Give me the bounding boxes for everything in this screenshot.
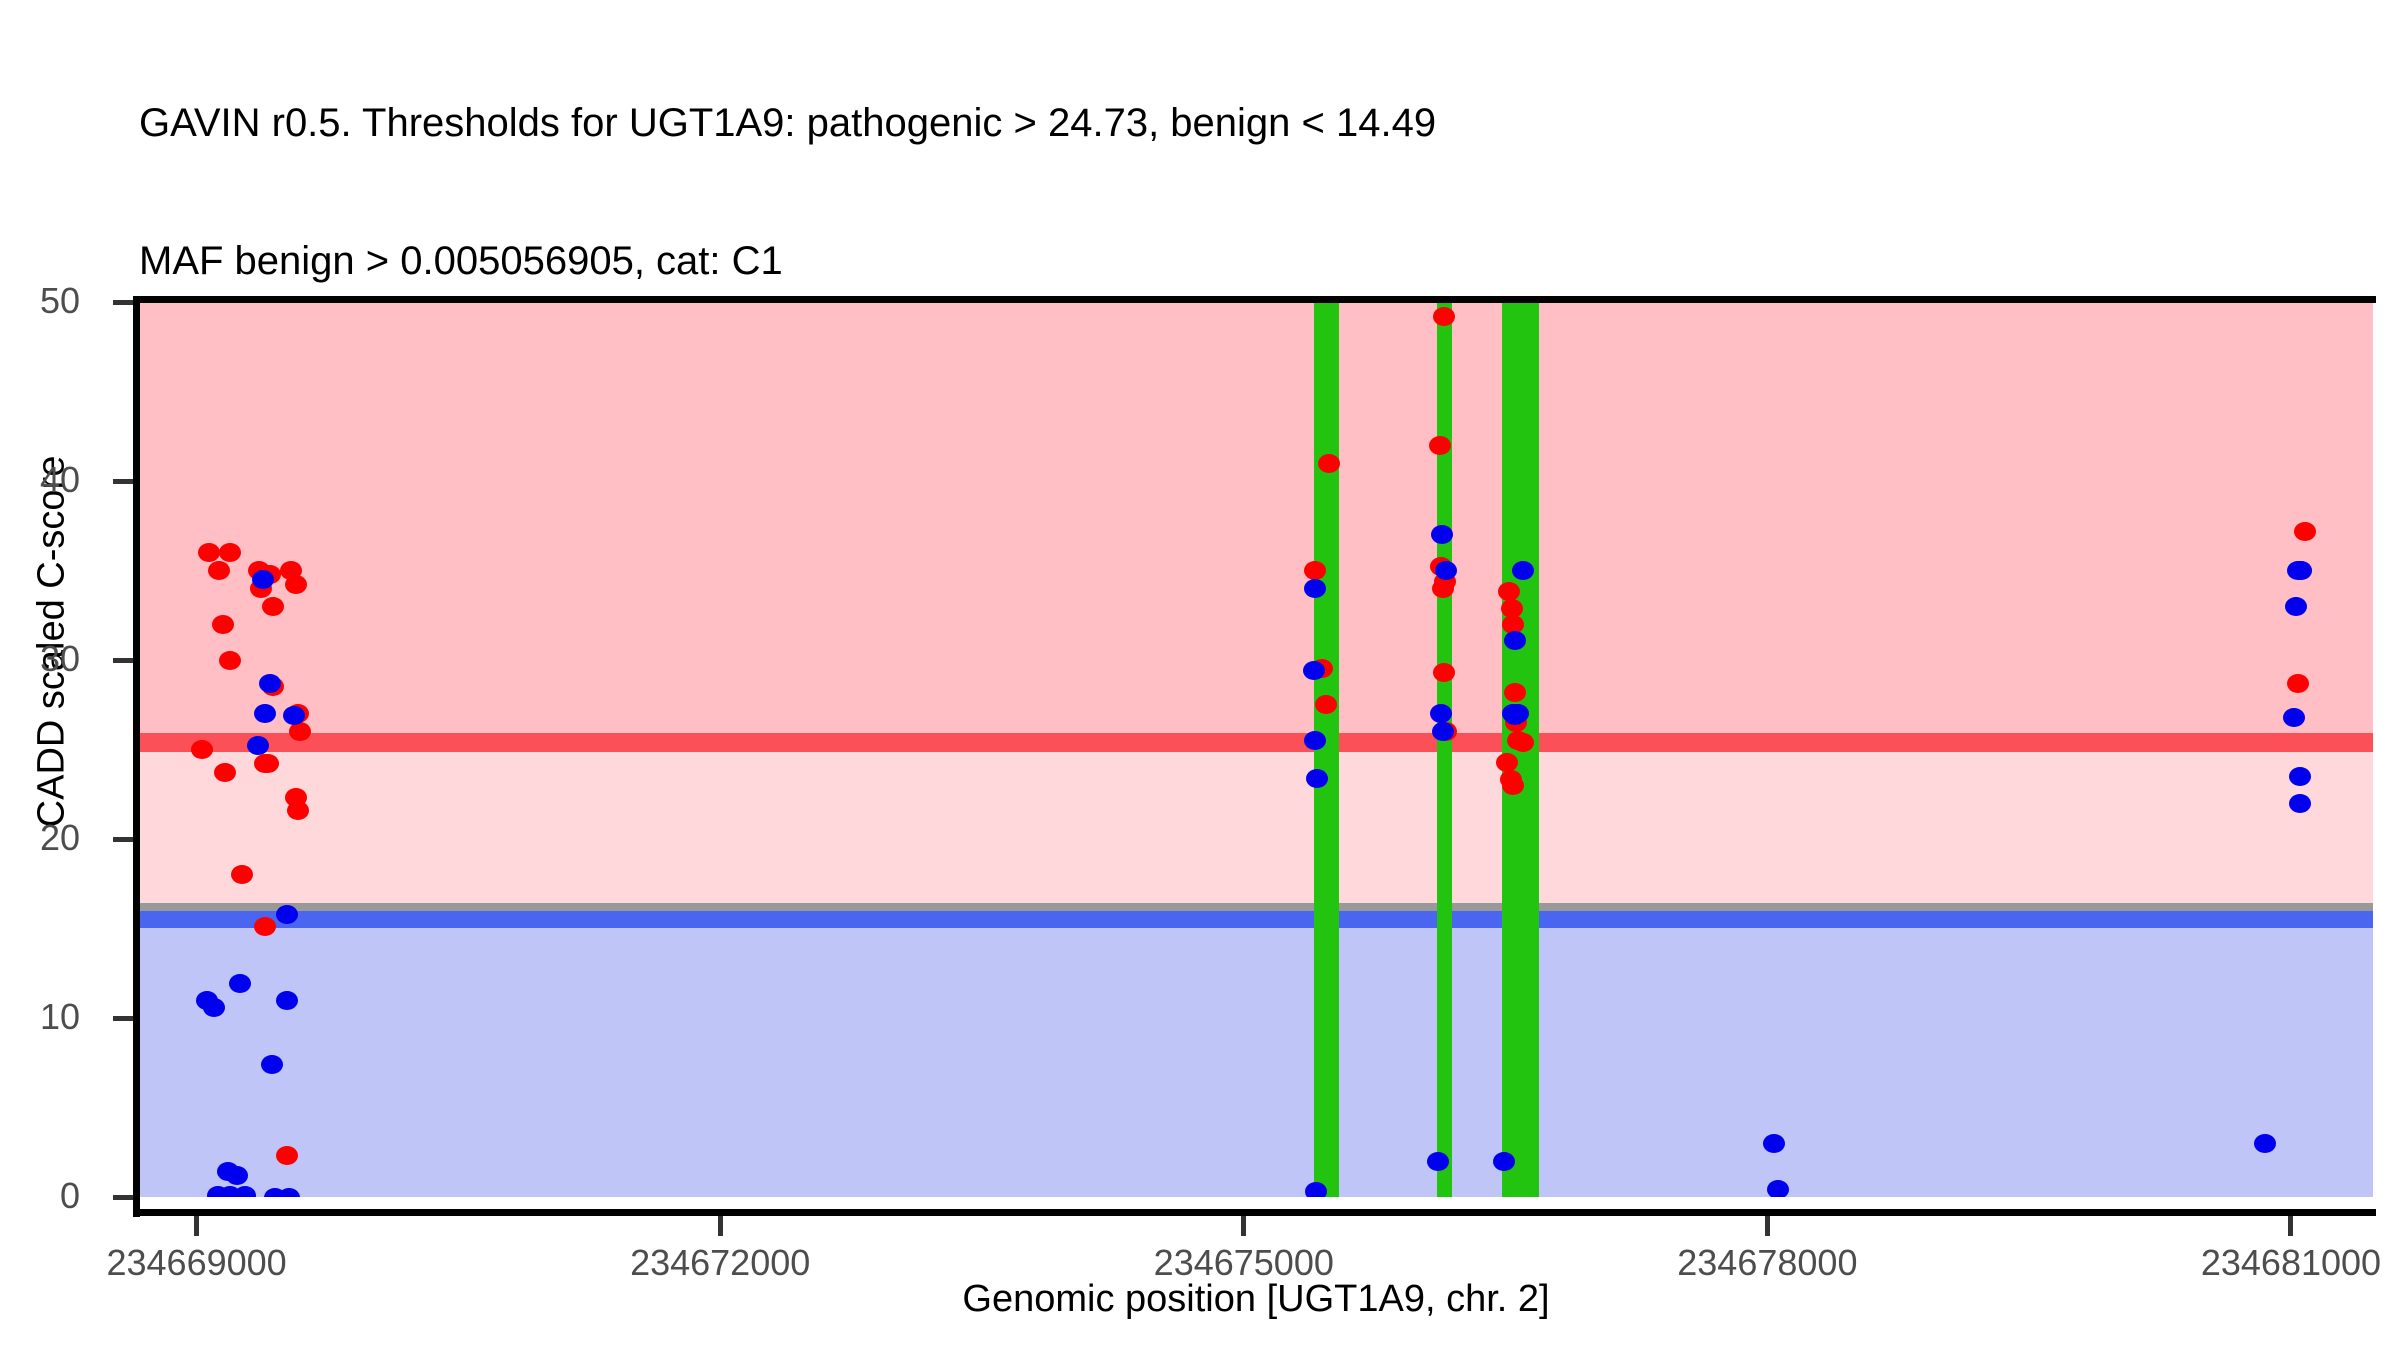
data-point bbox=[1427, 1152, 1449, 1171]
band-vous bbox=[139, 752, 2373, 903]
data-point bbox=[1512, 561, 1534, 580]
x-axis-tick-label: 234669000 bbox=[27, 1242, 367, 1284]
data-point bbox=[203, 998, 225, 1017]
data-point bbox=[1433, 663, 1455, 682]
y-axis-tick-label: 0 bbox=[0, 1175, 80, 1217]
x-axis-tick bbox=[1765, 1216, 1770, 1236]
axis-top-rule bbox=[139, 296, 2376, 303]
y-axis-tick bbox=[113, 658, 133, 663]
y-axis-tick-label: 40 bbox=[0, 459, 80, 501]
data-point bbox=[259, 674, 281, 693]
data-point bbox=[276, 905, 298, 924]
data-point bbox=[198, 543, 220, 562]
data-point bbox=[1315, 695, 1337, 714]
data-point bbox=[1504, 631, 1526, 650]
axis-bottom-rule bbox=[139, 1209, 2376, 1216]
y-axis-tick-label: 10 bbox=[0, 996, 80, 1038]
data-point bbox=[1432, 579, 1454, 598]
data-point bbox=[1429, 436, 1451, 455]
data-point bbox=[1433, 307, 1455, 326]
benign-threshold-line bbox=[139, 911, 2373, 928]
data-point bbox=[2294, 522, 2316, 541]
y-axis-tick-label: 20 bbox=[0, 817, 80, 859]
data-point bbox=[276, 991, 298, 1010]
data-point bbox=[254, 704, 276, 723]
data-point bbox=[262, 597, 284, 616]
plot-panel bbox=[139, 302, 2373, 1197]
title-line-1: GAVIN r0.5. Thresholds for UGT1A9: patho… bbox=[139, 100, 2239, 146]
data-point bbox=[261, 1055, 283, 1074]
x-axis-tick bbox=[194, 1216, 199, 1236]
x-axis-tick bbox=[1241, 1216, 1246, 1236]
data-point bbox=[1305, 1182, 1327, 1197]
data-point bbox=[2289, 767, 2311, 786]
x-axis-tick-label: 234672000 bbox=[550, 1242, 890, 1284]
x-axis-tick-label: 234681000 bbox=[2121, 1242, 2400, 1284]
data-point bbox=[1507, 704, 1529, 723]
data-point bbox=[1318, 454, 1340, 473]
y-axis-tick bbox=[113, 479, 133, 484]
data-point bbox=[1496, 753, 1518, 772]
data-point bbox=[219, 651, 241, 670]
data-point bbox=[1504, 683, 1526, 702]
fallback-threshold-line bbox=[139, 903, 2373, 911]
x-axis-tick bbox=[2288, 1216, 2293, 1236]
data-point bbox=[1493, 1152, 1515, 1171]
data-point bbox=[1432, 722, 1454, 741]
data-point bbox=[287, 801, 309, 820]
data-point bbox=[212, 615, 234, 634]
x-axis-tick-label: 234675000 bbox=[1074, 1242, 1414, 1284]
band-pathogenic bbox=[139, 302, 2373, 743]
x-axis-label: Genomic position [UGT1A9, chr. 2] bbox=[139, 1278, 2373, 1321]
data-point bbox=[247, 736, 269, 755]
data-point bbox=[219, 543, 241, 562]
data-point bbox=[1763, 1134, 1785, 1153]
data-point bbox=[252, 570, 274, 589]
y-axis-tick bbox=[113, 1195, 133, 1200]
data-point bbox=[1767, 1180, 1789, 1197]
chart-root: GAVIN r0.5. Thresholds for UGT1A9: patho… bbox=[0, 0, 2400, 1350]
data-point bbox=[2287, 674, 2309, 693]
y-axis-tick bbox=[113, 1016, 133, 1021]
data-point bbox=[1306, 769, 1328, 788]
y-axis-tick-label: 30 bbox=[0, 638, 80, 680]
data-point bbox=[226, 1166, 248, 1185]
x-axis-tick bbox=[718, 1216, 723, 1236]
data-point bbox=[214, 763, 236, 782]
y-axis-tick bbox=[113, 837, 133, 842]
axis-left-rule bbox=[133, 296, 140, 1217]
data-point bbox=[2285, 597, 2307, 616]
data-point bbox=[1512, 733, 1534, 752]
y-axis-tick-label: 50 bbox=[0, 280, 80, 322]
y-axis-tick bbox=[113, 300, 133, 305]
band-benign bbox=[139, 928, 2373, 1197]
data-point bbox=[254, 917, 276, 936]
title-line-2: MAF benign > 0.005056905, cat: C1 bbox=[139, 238, 2239, 284]
data-point bbox=[2289, 794, 2311, 813]
data-point bbox=[191, 740, 213, 759]
x-axis-tick-label: 234678000 bbox=[1597, 1242, 1937, 1284]
pathogenic-threshold-line bbox=[139, 733, 2373, 752]
data-point bbox=[2254, 1134, 2276, 1153]
data-point bbox=[1431, 525, 1453, 544]
